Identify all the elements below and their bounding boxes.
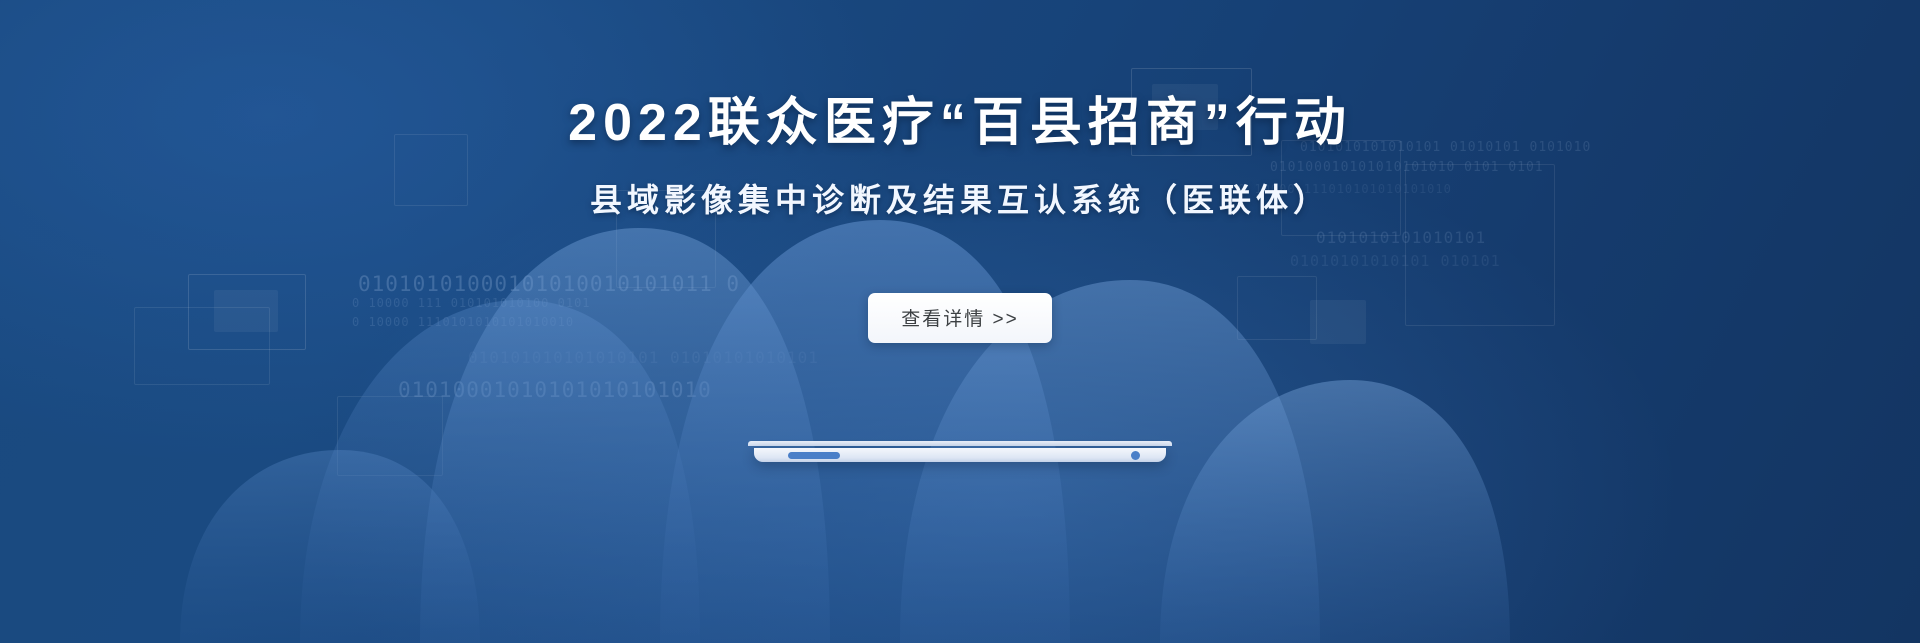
decor-rect-12 [616, 190, 716, 288]
laptop-notch-icon [788, 452, 840, 459]
binary-decor-9: 0101010101010101 [1316, 228, 1486, 247]
binary-decor-8: 0 10000 111010101010101010 [1238, 182, 1452, 196]
binary-decor-5: 01010001010101010101010 [398, 378, 712, 402]
laptop-illustration [748, 441, 1172, 462]
page-title: 2022联众医疗“百县招商”行动 [0, 92, 1920, 154]
binary-decor-6: 0101010101010101 01010101 0101010 [1300, 140, 1591, 155]
laptop-lid [748, 441, 1172, 446]
decor-rect-1 [1131, 68, 1252, 156]
laptop-indicator-icon [1131, 451, 1140, 460]
decor-rect-10 [394, 134, 468, 206]
binary-decor-4: 010101010101010101 01010101010101 [468, 348, 819, 367]
promo-banner: 01010101000101010010101011 0 0 10000 111… [0, 0, 1920, 643]
laptop-base [754, 448, 1166, 462]
page-subtitle: 县域影像集中诊断及结果互认系统（医联体） [0, 178, 1920, 222]
binary-decor-10: 01010101010101 010101 [1290, 252, 1501, 270]
decor-rect-11 [337, 396, 443, 476]
cta-container: 查看详情 >> [0, 293, 1920, 343]
decor-rect-3 [1281, 140, 1401, 236]
decor-rect-2 [1152, 84, 1218, 130]
view-details-button[interactable]: 查看详情 >> [868, 293, 1052, 343]
binary-decor-7: 010100010101010101010 0101 0101 [1270, 160, 1544, 175]
